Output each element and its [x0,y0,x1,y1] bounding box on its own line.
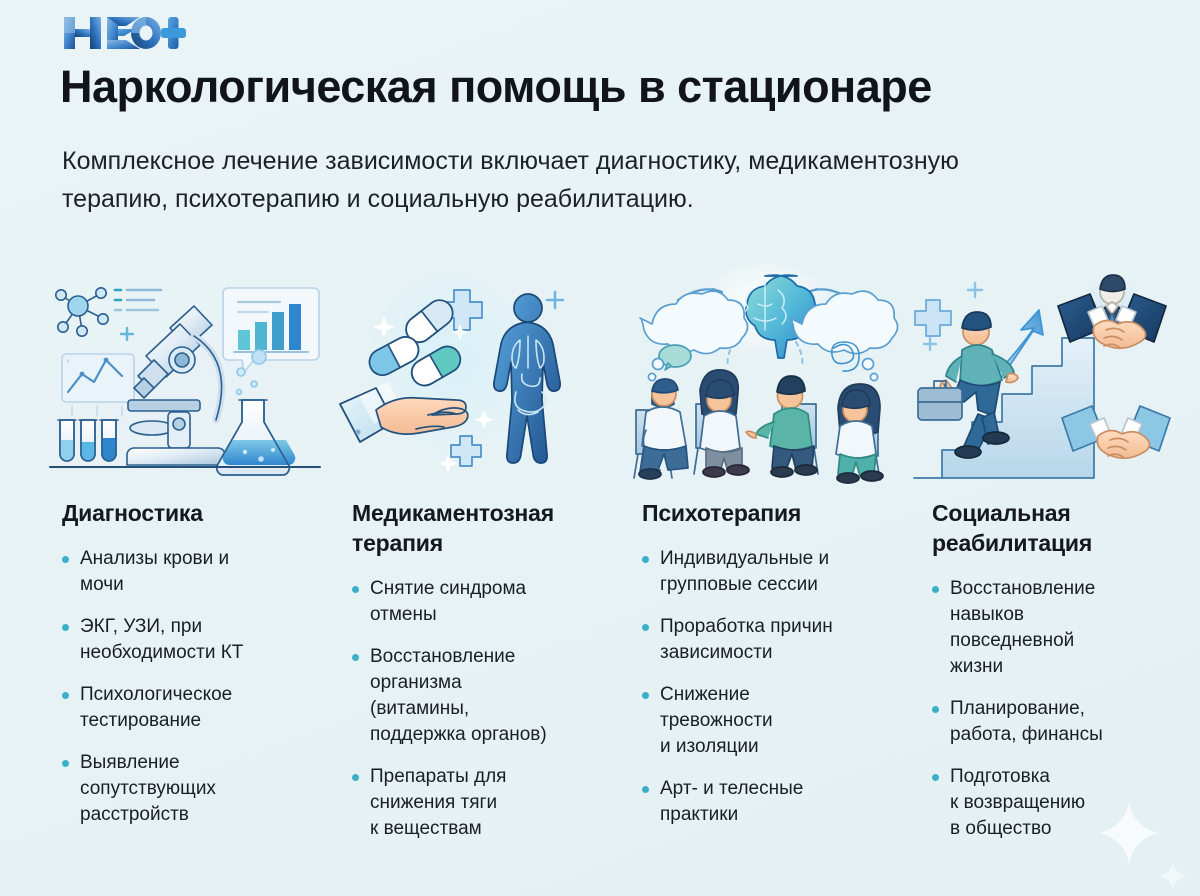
bullet-dot-icon [642,556,649,563]
bullet-dot-icon [352,586,359,593]
page-subtitle: Комплексное лечение зависимости включает… [62,142,962,218]
bullet-list-socialnaya-reabilitaciya: Восстановление навыков повседневной жизн… [932,576,1178,842]
bullet-dot-icon [62,624,69,631]
person-figure [746,376,817,477]
bullet-list-diagnostika: Анализы крови и мочи ЭКГ, УЗИ, при необх… [62,546,308,828]
list-item-text: Препараты для снижения тяги к веществам [370,764,598,842]
column-socialnaya-reabilitaciya: Социальная реабилитация Восстановление н… [910,498,1200,878]
list-item: Снятие синдрома отмены [352,576,598,628]
list-item-text: Восстановление навыков повседневной жизн… [950,576,1178,680]
column-heading-diagnostika: Диагностика [62,498,308,528]
list-item-text: Анализы крови и мочи [80,546,308,598]
column-heading-psihoterapiya: Психотерапия [642,498,888,528]
list-item: Планирование, работа, финансы [932,696,1178,748]
column-diagnostika: Диагностика Анализы крови и мочи ЭКГ, УЗ… [40,498,330,878]
list-item: Выявление сопутствующих расстройств [62,750,308,828]
plus-icon [547,292,563,308]
bullet-dot-icon [932,586,939,593]
list-item-text: Планирование, работа, финансы [950,696,1178,748]
logo-letter-h [64,17,101,49]
content-columns: Диагностика Анализы крови и мочи ЭКГ, УЗ… [40,498,1200,878]
bullet-dot-icon [352,774,359,781]
bullet-dot-icon [932,774,939,781]
list-item-text: ЭКГ, УЗИ, при необходимости КТ [80,614,308,666]
column-medikamentoznaya-terapiya: Медикаментозная терапия Снятие синдрома … [330,498,620,878]
list-item: Препараты для снижения тяги к веществам [352,764,598,842]
list-item: ЭКГ, УЗИ, при необходимости КТ [62,614,308,666]
bullet-list-medikamentoznaya-terapiya: Снятие синдрома отмены Восстановление ор… [352,576,598,842]
list-item: Подготовка к возвращению в общество [932,764,1178,842]
list-item: Восстановление навыков повседневной жизн… [932,576,1178,680]
person-figure [639,379,688,479]
thought-cloud-left [640,291,748,381]
infographic-page: Наркологическая помощь в стационаре Комп… [0,0,1200,896]
list-item-text: Восстановление организма (витамины, подд… [370,644,598,748]
list-lines [115,290,161,310]
bullet-dot-icon [62,556,69,563]
list-item: Арт- и телесные практики [642,776,888,828]
list-item-text: Выявление сопутствующих расстройств [80,750,308,828]
illustration-row [40,262,1200,490]
molecule-icon [56,288,108,336]
list-item-text: Арт- и телесные практики [660,776,888,828]
logo-letter-o [131,17,161,49]
psychotherapy-illustration [620,262,910,490]
bar-chart-panel [223,288,319,372]
list-item-text: Проработка причин зависимости [660,614,888,666]
person-figure [700,370,749,477]
bullet-dot-icon [932,706,939,713]
column-heading-medikamentoznaya-terapiya: Медикаментозная терапия [352,498,598,558]
person-figure [836,384,883,483]
microscope-icon [127,306,225,465]
list-item: Восстановление организма (витамины, подд… [352,644,598,748]
bullet-dot-icon [62,692,69,699]
list-item-text: Индивидуальные и групповые сессии [660,546,888,598]
list-item: Психологическое тестирование [62,682,308,734]
medication-illustration [330,262,620,490]
list-item: Снижение тревожности и изоляции [642,682,888,760]
column-psihoterapiya: Психотерапия Индивидуальные и групповые … [620,498,910,878]
bullet-dot-icon [642,624,649,631]
test-tubes-icon [58,420,118,461]
list-item-text: Подготовка к возвращению в общество [950,764,1178,842]
rehabilitation-illustration [910,262,1200,490]
neo-plus-logo [62,12,197,54]
bullet-list-psihoterapiya: Индивидуальные и групповые сессии Прораб… [642,546,888,828]
page-title: Наркологическая помощь в стационаре [60,60,1160,114]
bullet-dot-icon [642,786,649,793]
list-item-text: Снятие синдрома отмены [370,576,598,628]
list-item-text: Снижение тревожности и изоляции [660,682,888,760]
plus-icon [121,328,133,340]
bullet-dot-icon [62,760,69,767]
list-item: Проработка причин зависимости [642,614,888,666]
list-item-text: Психологическое тестирование [80,682,308,734]
handshake-icon [1058,275,1166,348]
list-item: Индивидуальные и групповые сессии [642,546,888,598]
bullet-dot-icon [352,654,359,661]
bullet-dot-icon [642,692,649,699]
medical-cross-icon [915,300,951,336]
line-chart-panel [62,354,134,402]
list-item: Анализы крови и мочи [62,546,308,598]
diagnostics-illustration [40,262,330,490]
column-heading-socialnaya-reabilitaciya: Социальная реабилитация [932,498,1178,558]
logo-plus-icon [161,17,186,49]
flask-icon [217,400,296,475]
